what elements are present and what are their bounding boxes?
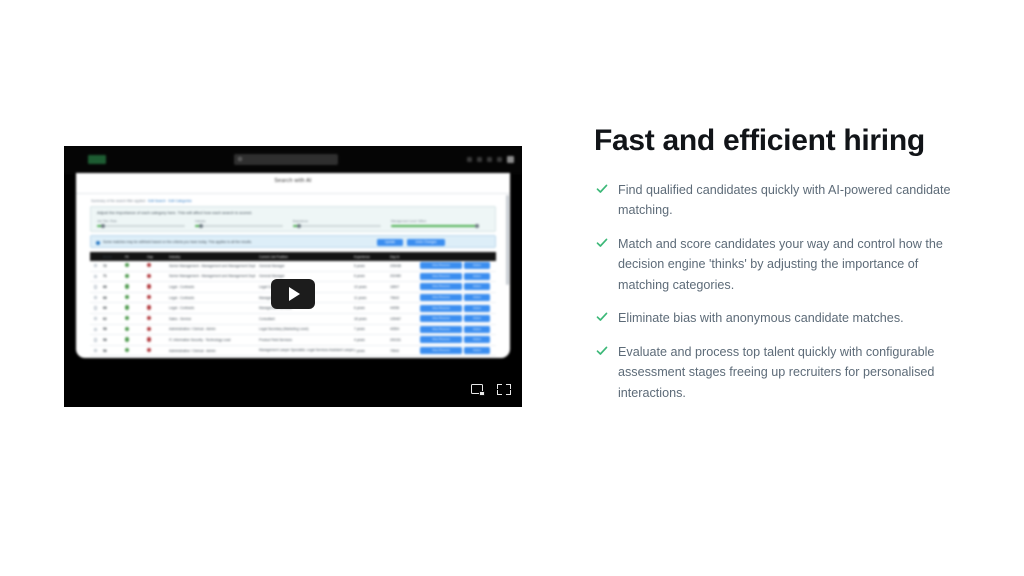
- fit-indicator-icon: [125, 316, 147, 321]
- action-button[interactable]: Action: [464, 326, 490, 333]
- page-title: Fast and efficient hiring: [594, 124, 966, 158]
- fit-indicator-icon: [125, 284, 147, 289]
- column-fit[interactable]: Fit: [125, 255, 147, 259]
- table-row[interactable]: 58Administrative / Clerical - AdminLegal…: [90, 325, 496, 336]
- bookmark-icon[interactable]: [487, 157, 492, 162]
- feature-bullet-list: Find qualified candidates quickly with A…: [594, 180, 966, 404]
- cell-experience: 11 years: [354, 296, 390, 300]
- breadcrumb-text: Summary of the search filter applied: [91, 199, 145, 203]
- cell-score: 71: [103, 274, 125, 278]
- video-poster: Search with AI Summary of the search fil…: [64, 146, 522, 407]
- cell-actions: View ResumeAction: [420, 326, 492, 333]
- importance-panel: Adjust the importance of each category h…: [90, 206, 496, 232]
- gap-indicator-icon: [147, 274, 169, 279]
- table-header-row: Score Fit Gap Industry Current Job Posit…: [90, 252, 496, 261]
- breadcrumb: Summary of the search filter applied Edi…: [91, 199, 192, 203]
- cell-industry: Legal - Contracts: [169, 285, 259, 289]
- browser-toolbar-icons[interactable]: [467, 156, 514, 163]
- slider-label: Industry: [195, 219, 283, 223]
- fit-indicator-icon: [125, 327, 147, 332]
- cell-actions: View ResumeAction: [420, 273, 492, 280]
- brand-logo: [88, 155, 106, 164]
- cell-score: 56: [103, 349, 125, 353]
- view-resume-button[interactable]: View Resume: [420, 262, 462, 269]
- cell-actions: View ResumeAction: [420, 347, 492, 354]
- fit-indicator-icon: [125, 274, 147, 279]
- view-resume-button[interactable]: View Resume: [420, 315, 462, 322]
- action-button[interactable]: Action: [464, 336, 490, 343]
- cell-score: 62: [103, 317, 125, 321]
- feature-bullet: Eliminate bias with anonymous candidate …: [594, 308, 966, 329]
- search-icon: [238, 157, 242, 161]
- column-gap[interactable]: Gap: [147, 255, 169, 259]
- table-row[interactable]: 62Sales - ServiceConsultant18 years10546…: [90, 314, 496, 325]
- cell-current-job-position: Legal Secretary (Marketing Level): [259, 327, 354, 331]
- cell-experience: 6 years: [354, 306, 390, 310]
- app-title: Search with AI: [76, 178, 510, 184]
- slider-track[interactable]: [293, 225, 381, 227]
- row-checkbox[interactable]: [94, 296, 103, 299]
- cell-current-job-position: General Manager: [259, 274, 354, 278]
- importance-slider-management-level[interactable]: Management Level / Effort: [391, 219, 479, 227]
- picture-in-picture-icon[interactable]: [471, 383, 485, 396]
- cell-score: 68: [103, 285, 125, 289]
- row-checkbox[interactable]: [94, 317, 103, 320]
- cell-current-job-position: Consultant: [259, 317, 354, 321]
- gap-indicator-icon: [147, 284, 169, 289]
- row-checkbox[interactable]: [94, 285, 103, 288]
- cell-score: 58: [103, 338, 125, 342]
- feature-content: Fast and efficient hiring Find qualified…: [594, 124, 966, 403]
- cell-industry: IT, Information Security - Technology Le…: [169, 338, 259, 342]
- cell-day-id: 79542: [390, 349, 420, 353]
- slider-knob[interactable]: [297, 224, 302, 229]
- cell-experience: 18 years: [354, 317, 390, 321]
- feature-bullet-text: Find qualified candidates quickly with A…: [618, 183, 951, 218]
- feature-bullet-text: Eliminate bias with anonymous candidate …: [618, 311, 904, 325]
- undo-changes-button[interactable]: Undo Changes: [407, 239, 445, 246]
- gap-indicator-icon: [147, 327, 169, 332]
- marketing-feature-section: Search with AI Summary of the search fil…: [0, 0, 1024, 576]
- action-button[interactable]: Action: [464, 347, 490, 354]
- cell-score: 58: [103, 327, 125, 331]
- cell-score: 72: [103, 264, 125, 268]
- cell-day-id: 200151: [390, 338, 420, 342]
- profile-icon[interactable]: [497, 157, 502, 162]
- column-experience[interactable]: Experience: [354, 255, 390, 259]
- check-icon: [596, 345, 608, 357]
- edit-search-link[interactable]: Edit Search: [148, 199, 166, 203]
- slider-fill: [391, 225, 479, 227]
- gap-indicator-icon: [147, 263, 169, 268]
- importance-slider-industry[interactable]: Industry: [195, 219, 283, 227]
- table-row[interactable]: 58IT, Information Security - Technology …: [90, 335, 496, 346]
- cell-actions: View ResumeAction: [420, 336, 492, 343]
- cell-industry: Administrative / Clerical - Admin: [169, 327, 259, 331]
- fit-indicator-icon: [125, 337, 147, 342]
- title-divider: [76, 193, 510, 194]
- cell-day-id: 105467: [390, 317, 420, 321]
- row-checkbox[interactable]: [94, 338, 103, 341]
- cell-experience: 6 years: [354, 274, 390, 278]
- cell-day-id: 205438: [390, 264, 420, 268]
- play-button[interactable]: [271, 279, 315, 309]
- cell-day-id: 40554: [390, 327, 420, 331]
- action-button[interactable]: Action: [464, 294, 490, 301]
- player-controls[interactable]: [471, 383, 511, 396]
- notice-bar: Some matches may be withheld based on th…: [90, 235, 496, 248]
- slider-knob[interactable]: [475, 224, 480, 229]
- cell-actions: View ResumeAction: [420, 283, 492, 290]
- view-resume-button[interactable]: View Resume: [420, 294, 462, 301]
- fullscreen-icon[interactable]: [497, 383, 511, 396]
- importance-slider-experience[interactable]: Experience: [293, 219, 381, 227]
- info-icon: [96, 241, 100, 245]
- cell-day-id: 44056: [390, 306, 420, 310]
- cell-industry: Legal - Contracts: [169, 296, 259, 300]
- cell-experience: 7 years: [354, 327, 390, 331]
- feature-bullet-text: Evaluate and process top talent quickly …: [618, 345, 934, 400]
- app-screenshot-mockup: Search with AI Summary of the search fil…: [64, 146, 522, 358]
- gap-indicator-icon: [147, 337, 169, 342]
- extensions-icon[interactable]: [477, 157, 482, 162]
- cell-day-id: 202480: [390, 274, 420, 278]
- browser-address-bar[interactable]: [234, 154, 338, 165]
- action-button[interactable]: Action: [464, 315, 490, 322]
- column-score[interactable]: Score: [103, 255, 125, 259]
- gap-indicator-icon: [147, 348, 169, 353]
- row-checkbox[interactable]: [94, 349, 103, 352]
- notice-text: Some matches may be withheld based on th…: [103, 240, 252, 244]
- column-current-job-position[interactable]: Current Job Position: [259, 255, 354, 259]
- gap-indicator-icon: [147, 295, 169, 300]
- slider-track[interactable]: [97, 225, 185, 227]
- mockup-browser-bar: [64, 146, 522, 174]
- check-icon: [596, 237, 608, 249]
- slider-knob[interactable]: [101, 224, 106, 229]
- cell-actions: View ResumeAction: [420, 262, 492, 269]
- menu-icon[interactable]: [507, 156, 514, 163]
- row-checkbox[interactable]: [94, 306, 103, 309]
- action-button[interactable]: Action: [464, 283, 490, 290]
- cell-experience: 7 years: [354, 349, 390, 353]
- slider-track[interactable]: [391, 225, 479, 227]
- view-resume-button[interactable]: View Resume: [420, 336, 462, 343]
- cell-current-job-position: General Manager: [259, 264, 354, 268]
- cell-current-job-position: Product Field Services: [259, 338, 354, 342]
- row-checkbox[interactable]: [94, 264, 103, 267]
- cell-day-id: 18907: [390, 285, 420, 289]
- check-icon: [596, 183, 608, 195]
- slider-label: Experience: [293, 219, 381, 223]
- back-icon[interactable]: [467, 157, 472, 162]
- cell-experience: 10 years: [354, 285, 390, 289]
- play-icon: [289, 287, 300, 301]
- slider-label: Job Title / Role: [97, 219, 185, 223]
- view-resume-button[interactable]: View Resume: [420, 347, 462, 354]
- gap-indicator-icon: [147, 305, 169, 310]
- video-player[interactable]: Search with AI Summary of the search fil…: [64, 146, 522, 407]
- cell-actions: View ResumeAction: [420, 315, 492, 322]
- feature-bullet-text: Match and score candidates your way and …: [618, 237, 943, 292]
- view-resume-button[interactable]: View Resume: [420, 305, 462, 312]
- cell-day-id: 79642: [390, 296, 420, 300]
- row-checkbox[interactable]: [94, 328, 103, 331]
- feature-bullet: Find qualified candidates quickly with A…: [594, 180, 966, 221]
- view-resume-button[interactable]: View Resume: [420, 283, 462, 290]
- table-row[interactable]: 56Administrative / Clerical - AdminManag…: [90, 346, 496, 357]
- slider-track[interactable]: [195, 225, 283, 227]
- app-scrollbar[interactable]: [506, 195, 508, 285]
- importance-panel-title: Adjust the importance of each category h…: [97, 210, 252, 215]
- action-button[interactable]: Action: [464, 305, 490, 312]
- cell-industry: Senior Management - Management and Manag…: [169, 264, 259, 268]
- cell-industry: Administrative / Clerical - Admin: [169, 349, 259, 353]
- mockup-app-window: Search with AI Summary of the search fil…: [76, 173, 510, 358]
- feature-bullet: Evaluate and process top talent quickly …: [594, 342, 966, 404]
- update-button[interactable]: Update: [377, 239, 403, 246]
- slider-label: Management Level / Effort: [391, 219, 479, 223]
- cell-actions: View ResumeAction: [420, 305, 492, 312]
- row-checkbox[interactable]: [94, 275, 103, 278]
- cell-current-job-position: Management Lawyer Specialist, Legal Serv…: [259, 348, 354, 352]
- cell-industry: Senior Management - Management and Manag…: [169, 274, 259, 278]
- fit-indicator-icon: [125, 348, 147, 353]
- cell-industry: Sales - Service: [169, 317, 259, 321]
- importance-slider-job-title[interactable]: Job Title / Role: [97, 219, 185, 227]
- fit-indicator-icon: [125, 295, 147, 300]
- fit-indicator-icon: [125, 263, 147, 268]
- action-button[interactable]: Action: [464, 262, 490, 269]
- slider-knob[interactable]: [199, 224, 204, 229]
- action-button[interactable]: Action: [464, 273, 490, 280]
- cell-experience: 5 years: [354, 264, 390, 268]
- cell-industry: Legal - Contracts: [169, 306, 259, 310]
- cell-score: 68: [103, 296, 125, 300]
- table-row[interactable]: 72Senior Management - Management and Man…: [90, 261, 496, 272]
- column-day-id[interactable]: Day Id: [390, 255, 420, 259]
- column-industry[interactable]: Industry: [169, 255, 259, 259]
- view-resume-button[interactable]: View Resume: [420, 326, 462, 333]
- feature-bullet: Match and score candidates your way and …: [594, 234, 966, 296]
- view-resume-button[interactable]: View Resume: [420, 273, 462, 280]
- edit-categories-link[interactable]: Edit Categories: [168, 199, 191, 203]
- gap-indicator-icon: [147, 316, 169, 321]
- fit-indicator-icon: [125, 305, 147, 310]
- cell-experience: 4 years: [354, 338, 390, 342]
- cell-actions: View ResumeAction: [420, 294, 492, 301]
- check-icon: [596, 311, 608, 323]
- cell-score: 68: [103, 306, 125, 310]
